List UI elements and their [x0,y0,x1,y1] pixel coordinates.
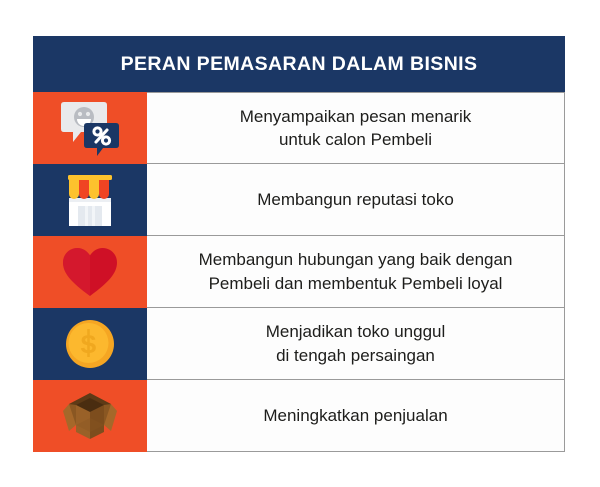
row-label-line: Meningkatkan penjualan [263,406,447,425]
coin-dollar-icon: S [64,318,116,370]
table-row: Meningkatkan penjualan [33,380,565,452]
chat-bubble-percent-icon [59,99,121,157]
infographic-canvas: PERAN PEMASARAN DALAM BISNIS [0,0,600,487]
icon-cell-4: S [33,308,147,380]
heart-icon [61,246,119,298]
row-label-line: Pembeli dan membentuk Pembeli loyal [209,274,503,293]
card-header: PERAN PEMASARAN DALAM BISNIS [33,36,565,92]
table-row: S Menjadikan toko unggul di tengah persa… [33,308,565,380]
row-label-line: Membangun reputasi toko [257,190,454,209]
text-cell-1: Menyampaikan pesan menarik untuk calon P… [147,92,565,164]
row-label-line: Menjadikan toko unggul [266,322,446,341]
table-row: Membangun hubungan yang baik dengan Pemb… [33,236,565,308]
row-label-line: Membangun hubungan yang baik dengan [199,250,513,269]
open-box-icon [61,389,119,443]
row-label: Menjadikan toko unggul di tengah persain… [266,320,446,367]
icon-cell-2 [33,164,147,236]
table-row: Membangun reputasi toko [33,164,565,236]
rows-container: Menyampaikan pesan menarik untuk calon P… [33,92,565,452]
text-cell-3: Membangun hubungan yang baik dengan Pemb… [147,236,565,308]
icon-cell-5 [33,380,147,452]
text-cell-2: Membangun reputasi toko [147,164,565,236]
table-row: Menyampaikan pesan menarik untuk calon P… [33,92,565,164]
infographic-card: PERAN PEMASARAN DALAM BISNIS [33,36,565,452]
storefront-icon [61,172,119,228]
page-title: PERAN PEMASARAN DALAM BISNIS [121,53,478,76]
row-label: Membangun reputasi toko [257,188,454,211]
icon-cell-1 [33,92,147,164]
row-label: Menyampaikan pesan menarik untuk calon P… [240,105,472,152]
text-cell-4: Menjadikan toko unggul di tengah persain… [147,308,565,380]
text-cell-5: Meningkatkan penjualan [147,380,565,452]
row-label-line: Menyampaikan pesan menarik [240,107,472,126]
row-label-line: untuk calon Pembeli [279,130,432,149]
icon-cell-3 [33,236,147,308]
row-label: Meningkatkan penjualan [263,404,447,427]
row-label: Membangun hubungan yang baik dengan Pemb… [199,248,513,295]
row-label-line: di tengah persaingan [276,346,435,365]
